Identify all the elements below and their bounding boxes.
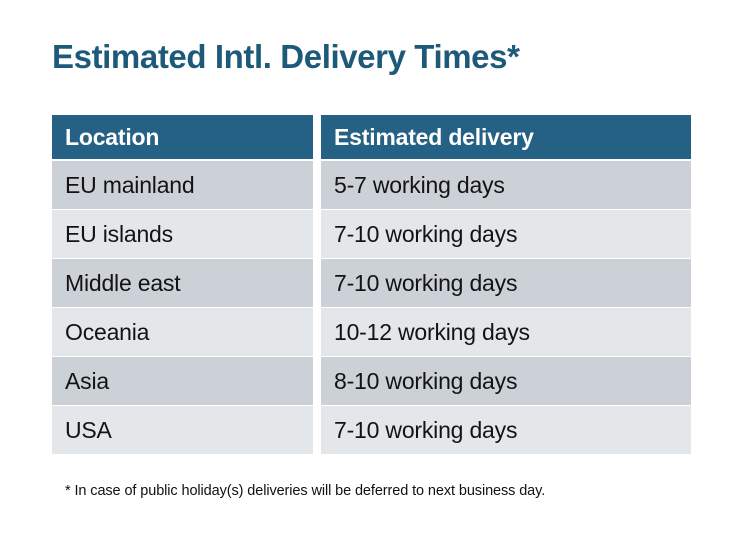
cell-delivery-value: 8-10 working days	[334, 370, 517, 393]
table-row: EU mainland 5-7 working days	[52, 161, 691, 209]
cell-delivery: 5-7 working days	[321, 161, 691, 209]
table-row: Oceania 10-12 working days	[52, 308, 691, 356]
table-row: EU islands 7-10 working days	[52, 210, 691, 258]
cell-location: EU mainland	[52, 161, 313, 209]
cell-delivery-value: 7-10 working days	[334, 272, 517, 295]
footnote-text: * In case of public holiday(s) deliverie…	[65, 481, 545, 501]
cell-delivery-value: 5-7 working days	[334, 174, 505, 197]
cell-delivery: 7-10 working days	[321, 259, 691, 307]
cell-delivery: 7-10 working days	[321, 210, 691, 258]
cell-delivery-value: 10-12 working days	[334, 321, 530, 344]
cell-delivery-value: 7-10 working days	[334, 419, 517, 442]
cell-delivery: 7-10 working days	[321, 406, 691, 454]
column-header-location: Location	[52, 115, 313, 159]
cell-location-value: EU mainland	[65, 174, 194, 197]
cell-location-value: USA	[65, 419, 112, 442]
column-header-estimated-delivery-label: Estimated delivery	[334, 126, 534, 149]
column-header-estimated-delivery: Estimated delivery	[321, 115, 691, 159]
cell-location: Oceania	[52, 308, 313, 356]
page-title: Estimated Intl. Delivery Times*	[52, 36, 520, 78]
delivery-times-table: Location Estimated delivery EU mainland …	[52, 115, 691, 455]
cell-delivery: 10-12 working days	[321, 308, 691, 356]
table-row: Middle east 7-10 working days	[52, 259, 691, 307]
table-header-row: Location Estimated delivery	[52, 115, 691, 159]
cell-location: USA	[52, 406, 313, 454]
cell-delivery-value: 7-10 working days	[334, 223, 517, 246]
delivery-times-page: Estimated Intl. Delivery Times* Location…	[0, 0, 745, 536]
column-header-location-label: Location	[65, 126, 159, 149]
table-row: Asia 8-10 working days	[52, 357, 691, 405]
table-row: USA 7-10 working days	[52, 406, 691, 454]
cell-location-value: Oceania	[65, 321, 149, 344]
cell-location-value: Middle east	[65, 272, 180, 295]
cell-location: Middle east	[52, 259, 313, 307]
cell-location-value: Asia	[65, 370, 109, 393]
cell-delivery: 8-10 working days	[321, 357, 691, 405]
cell-location: EU islands	[52, 210, 313, 258]
cell-location-value: EU islands	[65, 223, 173, 246]
cell-location: Asia	[52, 357, 313, 405]
